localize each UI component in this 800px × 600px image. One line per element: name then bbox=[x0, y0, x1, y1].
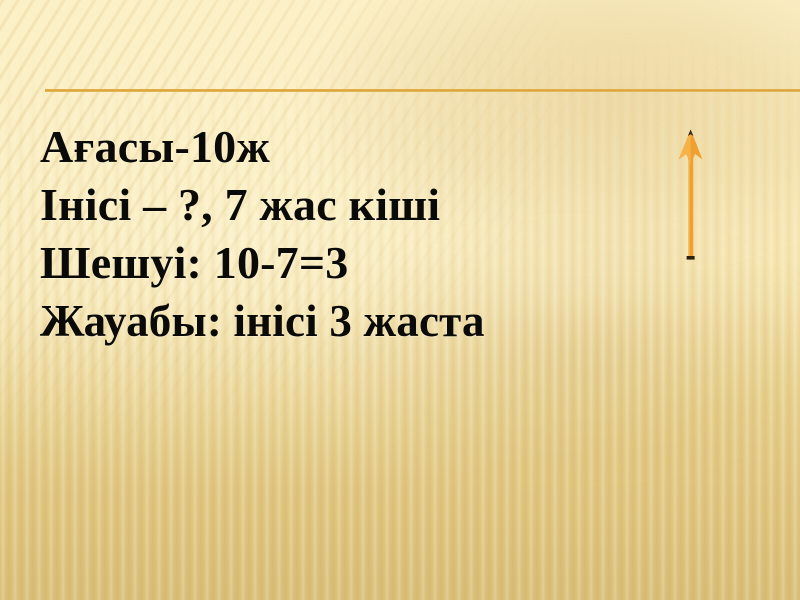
orange-up-arrow-icon bbox=[676, 128, 706, 261]
problem-line-question-younger-brother: Інісі – ?, 7 жас кіші bbox=[40, 176, 770, 234]
problem-line-answer: Жауабы: інісі 3 жаста bbox=[40, 292, 770, 350]
problem-line-solution: Шешуі: 10-7=3 bbox=[40, 234, 770, 292]
gold-horizontal-rule bbox=[45, 89, 800, 92]
slide-canvas: Ағасы-10ж Інісі – ?, 7 жас кіші Шешуі: 1… bbox=[0, 0, 800, 600]
problem-text-block: Ағасы-10ж Інісі – ?, 7 жас кіші Шешуі: 1… bbox=[40, 118, 770, 350]
problem-line-given-older-brother: Ағасы-10ж bbox=[40, 118, 770, 176]
